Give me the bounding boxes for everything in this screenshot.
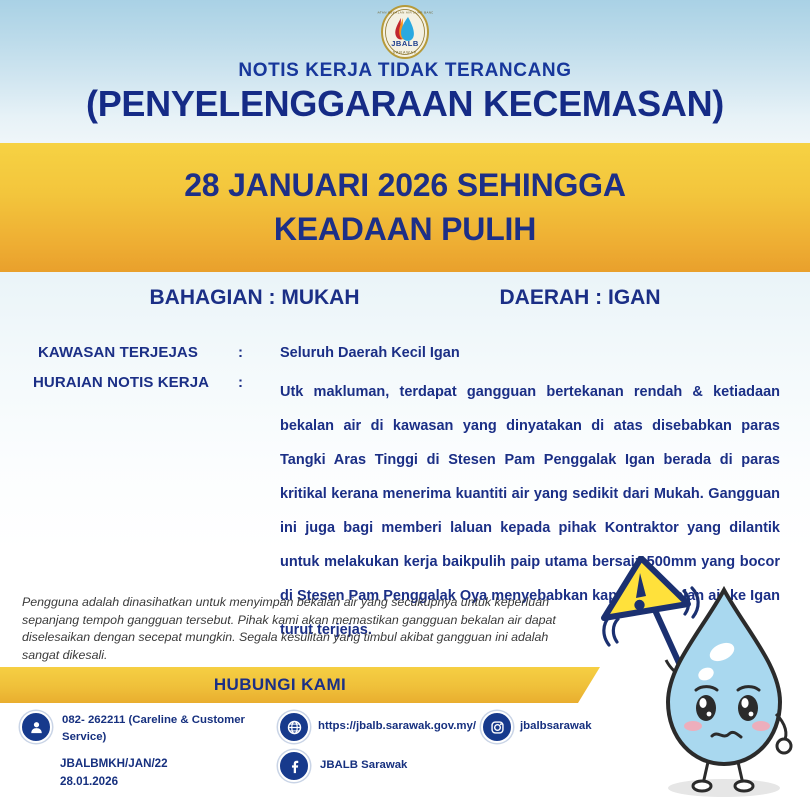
facebook-text[interactable]: JBALB Sarawak xyxy=(320,757,407,774)
careline-text: 082- 262211 (Careline & Customer Service… xyxy=(62,712,252,746)
instagram-text[interactable]: jbalbsarawak xyxy=(520,718,592,735)
jbalb-logo: JBALB SARAWAK JABATAN BEKALAN AIR LUAR B… xyxy=(377,4,433,60)
location-row: BAHAGIAN : MUKAH DAERAH : IGAN xyxy=(0,286,810,310)
district-label: DAERAH : IGAN xyxy=(499,286,660,310)
division-label: BAHAGIAN : MUKAH xyxy=(150,286,360,310)
person-icon[interactable] xyxy=(20,711,52,743)
instagram-icon[interactable] xyxy=(481,711,513,743)
area-colon: : xyxy=(238,344,243,361)
poster-header: JBALB SARAWAK JABATAN BEKALAN AIR LUAR B… xyxy=(0,0,810,143)
area-label: KAWASAN TERJEJAS xyxy=(38,344,198,361)
notice-colon: : xyxy=(238,374,243,391)
banner-slash-2 xyxy=(607,667,642,703)
reference-code: JBALBMKH/JAN/22 xyxy=(60,755,168,773)
header-subtitle: NOTIS KERJA TIDAK TERANCANG xyxy=(0,60,810,82)
date-line-1: 28 JANUARI 2026 SEHINGGA xyxy=(184,164,626,207)
svg-text:JBALB: JBALB xyxy=(391,39,419,48)
facebook-icon[interactable] xyxy=(278,750,310,782)
disclaimer-text: Pengguna adalah dinasihatkan untuk menyi… xyxy=(22,594,582,664)
notice-label: HURAIAN NOTIS KERJA xyxy=(33,374,209,391)
globe-icon[interactable] xyxy=(278,711,310,743)
svg-text:JABATAN BEKALAN AIR LUAR BANDA: JABATAN BEKALAN AIR LUAR BANDAR xyxy=(377,10,433,14)
website-text[interactable]: https://jbalb.sarawak.gov.my/ xyxy=(318,718,476,735)
reference-block: JBALBMKH/JAN/22 28.01.2026 xyxy=(60,755,168,791)
header-title: (PENYELENGGARAAN KECEMASAN) xyxy=(0,85,810,123)
date-line-2: KEADAAN PULIH xyxy=(184,208,626,251)
svg-text:SARAWAK: SARAWAK xyxy=(393,51,418,55)
reference-date: 28.01.2026 xyxy=(60,773,168,791)
area-value: Seluruh Daerah Kecil Igan xyxy=(280,345,460,361)
contact-banner: HUBUNGI KAMI xyxy=(0,667,810,703)
date-band: 28 JANUARI 2026 SEHINGGA KEADAAN PULIH xyxy=(0,143,810,272)
contact-banner-label: HUBUNGI KAMI xyxy=(0,667,560,703)
notice-poster: JBALB SARAWAK JABATAN BEKALAN AIR LUAR B… xyxy=(0,0,810,810)
